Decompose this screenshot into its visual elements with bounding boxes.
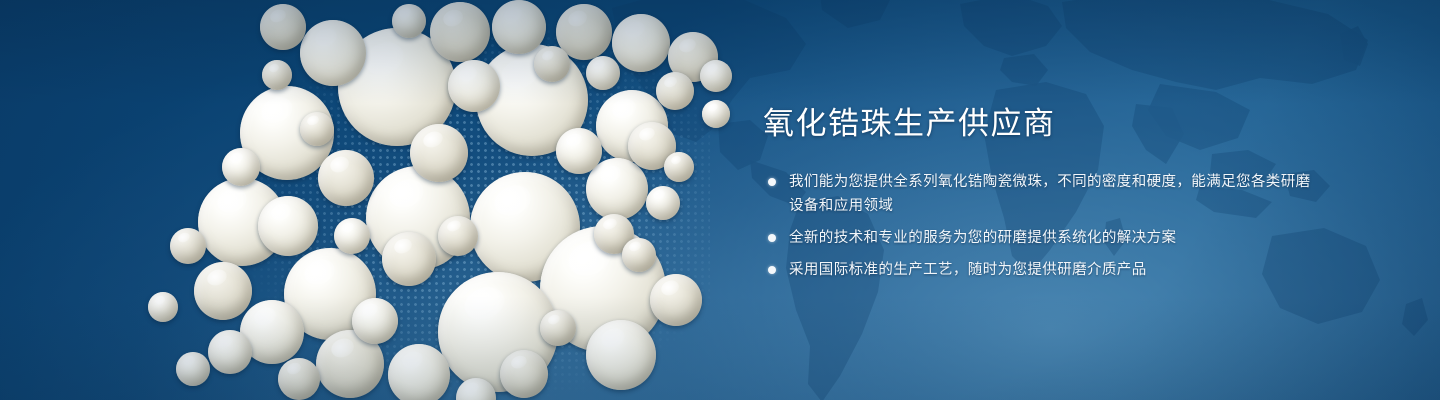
hero-banner: 氧化锆珠生产供应商 我们能为您提供全系列氧化锆陶瓷微珠，不同的密度和硬度，能满足… bbox=[0, 0, 1440, 400]
banner-copy-block: 氧化锆珠生产供应商 我们能为您提供全系列氧化锆陶瓷微珠，不同的密度和硬度，能满足… bbox=[763, 104, 1323, 282]
list-item: 我们能为您提供全系列氧化锆陶瓷微珠，不同的密度和硬度，能满足您各类研磨设备和应用… bbox=[763, 170, 1323, 218]
bullet-text: 全新的技术和专业的服务为您的研磨提供系统化的解决方案 bbox=[789, 230, 1176, 246]
bullet-dot-icon bbox=[768, 234, 776, 242]
list-item: 全新的技术和专业的服务为您的研磨提供系统化的解决方案 bbox=[763, 226, 1323, 250]
bullet-dot-icon bbox=[768, 266, 776, 274]
bullet-text: 我们能为您提供全系列氧化锆陶瓷微珠，不同的密度和硬度，能满足您各类研磨设备和应用… bbox=[789, 174, 1311, 214]
bullet-text: 采用国际标准的生产工艺，随时为您提供研磨介质产品 bbox=[789, 262, 1147, 278]
banner-feature-list: 我们能为您提供全系列氧化锆陶瓷微珠，不同的密度和硬度，能满足您各类研磨设备和应用… bbox=[763, 170, 1323, 282]
bullet-dot-icon bbox=[768, 178, 776, 186]
list-item: 采用国际标准的生产工艺，随时为您提供研磨介质产品 bbox=[763, 258, 1323, 282]
banner-headline: 氧化锆珠生产供应商 bbox=[763, 104, 1323, 144]
